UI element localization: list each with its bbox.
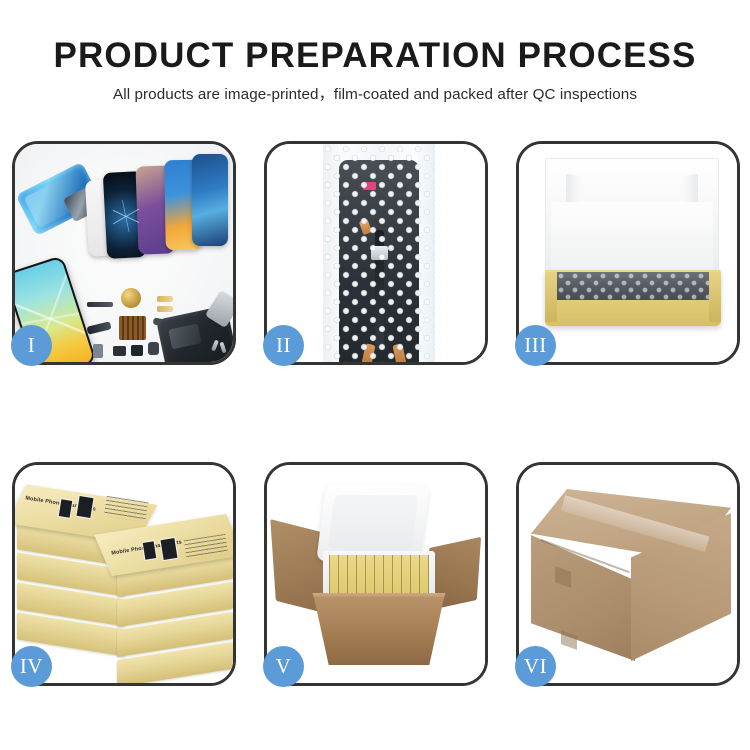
foam-box-lid [316, 485, 429, 561]
tray-lip-right [709, 272, 721, 322]
box-print-phone-image-b1 [142, 540, 158, 561]
step-badge-4: IV [11, 646, 52, 687]
small-part-1 [93, 344, 103, 358]
process-step-panel-3: III [516, 141, 740, 365]
process-steps-grid: I II [12, 141, 740, 686]
speaker-part [87, 302, 113, 307]
process-step-panel-4: Mobile Phone Spare Parts Mobile Phone Sp… [12, 462, 236, 686]
step-2-photo [267, 144, 485, 362]
process-step-panel-2: II [264, 141, 488, 365]
box-stack: Mobile Phone Spare Parts Mobile Phone Sp… [15, 465, 233, 683]
tray-lip-left [545, 272, 557, 322]
small-part-2 [113, 346, 126, 356]
yellow-boxes-inside [329, 555, 429, 595]
bubble-wrap-bag [323, 144, 435, 362]
gold-contact-strip-2 [157, 306, 173, 312]
step-badge-3: III [515, 325, 556, 366]
header: PRODUCT PREPARATION PROCESS All products… [0, 34, 750, 105]
cracked-glass-overlay [113, 200, 139, 232]
page-subtitle: All products are image-printed，film-coat… [0, 85, 750, 105]
vibrator-motor-part [121, 288, 141, 308]
step-badge-1: I [11, 325, 52, 366]
step-5-photo [267, 465, 485, 683]
bubble-highlights [557, 272, 709, 300]
gold-contact-strip-1 [157, 296, 173, 302]
bubble-outlines [323, 144, 435, 362]
box-print-phone-image-a2 [75, 495, 94, 519]
carton-body [305, 597, 453, 665]
process-step-panel-5: V [264, 462, 488, 686]
step-4-photo: Mobile Phone Spare Parts Mobile Phone Sp… [15, 465, 233, 683]
process-step-panel-6: VI [516, 462, 740, 686]
step-1-photo [15, 144, 233, 362]
process-step-panel-1: I [12, 141, 236, 365]
box-print-phone-image-b2 [159, 537, 178, 561]
step-3-photo [519, 144, 737, 362]
bubble-wrapped-contents [557, 272, 709, 300]
small-part-3 [131, 345, 143, 356]
product-preparation-infographic: PRODUCT PREPARATION PROCESS All products… [0, 0, 750, 750]
step-badge-5: V [263, 646, 304, 687]
display-panel-blue [192, 154, 228, 246]
page-title: PRODUCT PREPARATION PROCESS [0, 34, 750, 78]
step-6-photo [519, 465, 737, 683]
small-part-4 [148, 342, 159, 355]
step-badge-6: VI [515, 646, 556, 687]
foam-sheet [551, 202, 713, 274]
kraft-tray [545, 270, 721, 326]
connector-grid-part [119, 316, 146, 340]
step-badge-2: II [263, 325, 304, 366]
